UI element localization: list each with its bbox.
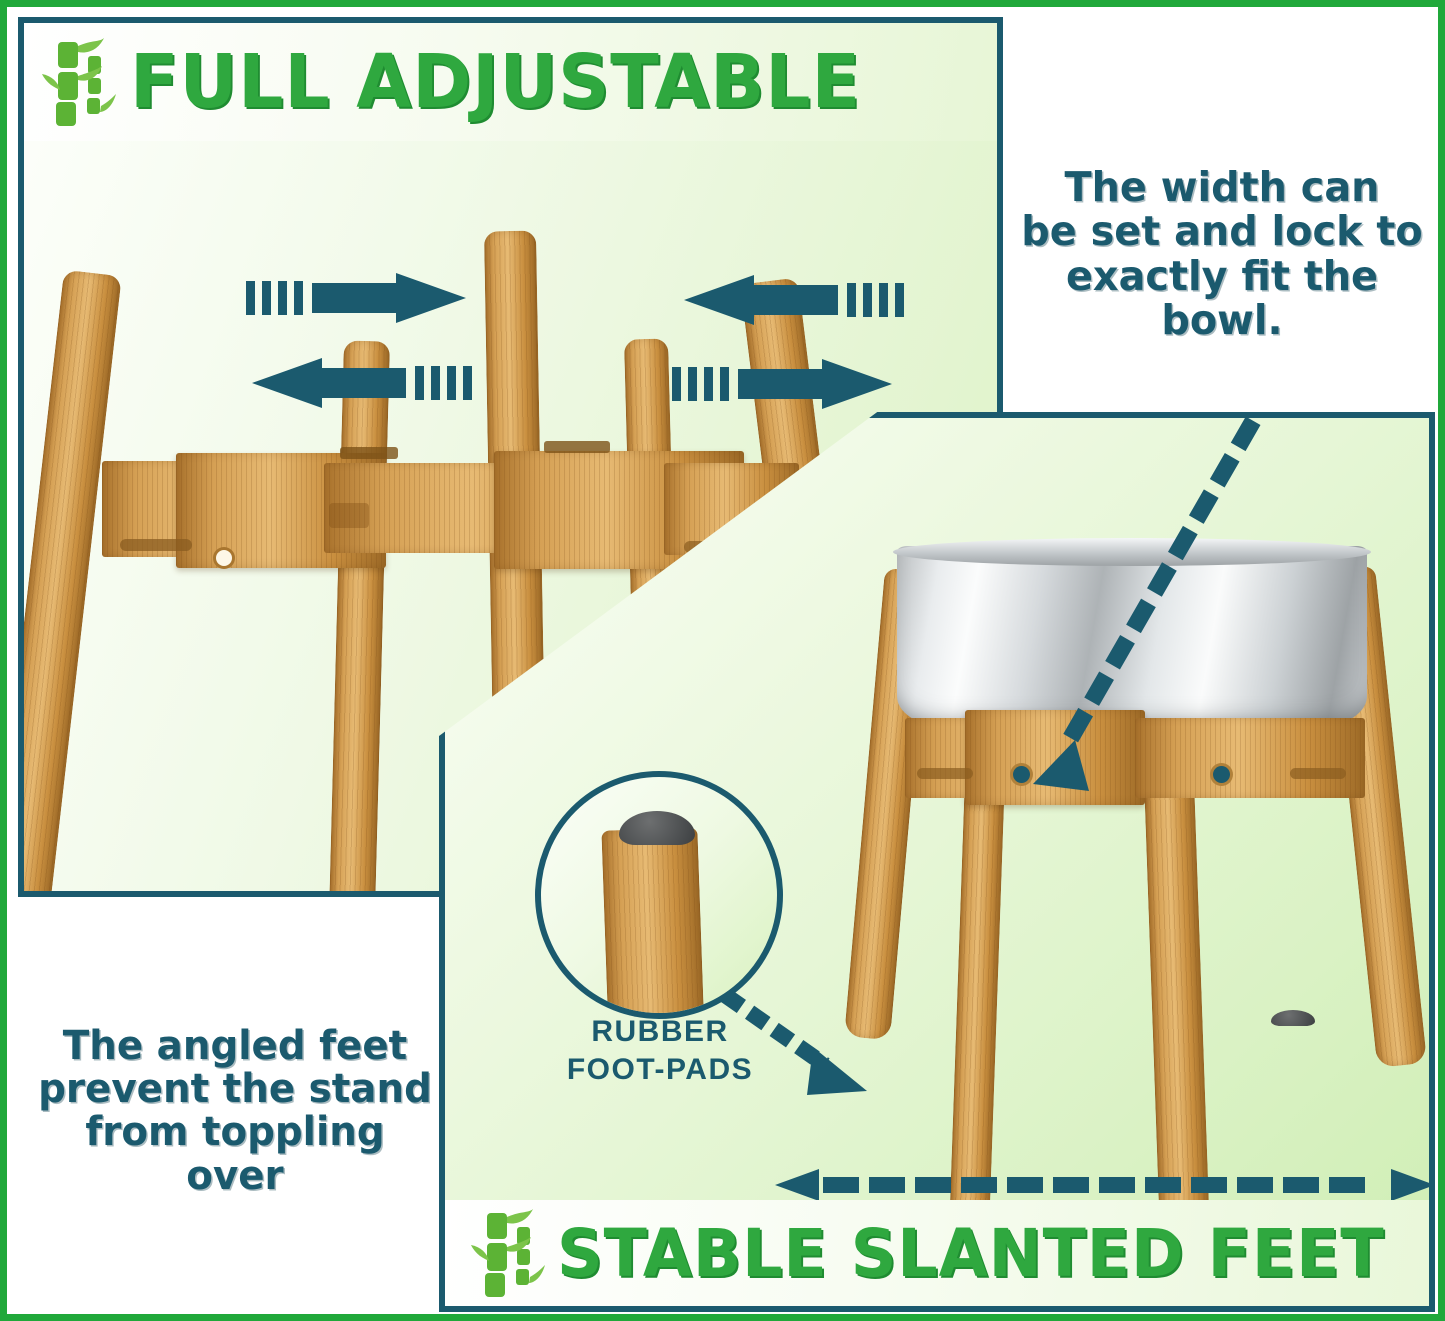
width-lock-pointer-arrow xyxy=(1005,418,1305,798)
callout-width-lock: The width can be set and lock to exactly… xyxy=(1004,165,1441,342)
callout-angled-feet: The angled feet prevent the stand from t… xyxy=(31,1025,438,1198)
adjust-arrows-left xyxy=(246,273,466,323)
callout-angled-feet-line2: prevent the stand xyxy=(31,1068,438,1111)
banner-full-adjustable: FULL ADJUSTABLE xyxy=(24,23,997,141)
magnified-leg xyxy=(601,827,704,1019)
callout-angled-feet-line1: The angled feet xyxy=(31,1025,438,1068)
bamboo-icon xyxy=(471,1207,545,1299)
stand-post-left xyxy=(329,340,390,891)
rail-notch-top-right xyxy=(544,441,610,453)
infographic-canvas: FULL ADJUSTABLE xyxy=(0,0,1445,1321)
label-rubber-foot-pads-line1: RUBBER xyxy=(555,1013,765,1051)
rail-slot-left xyxy=(120,539,192,551)
adjust-arrows-left-back xyxy=(252,358,472,408)
rubber-foot-pad-right xyxy=(1271,1010,1315,1026)
callout-width-lock-line1: The width can xyxy=(1004,165,1441,209)
rail-screw-left xyxy=(216,550,232,566)
banner-title-full-adjustable: FULL ADJUSTABLE xyxy=(130,39,861,125)
label-rubber-foot-pads-line2: FOOT-PADS xyxy=(555,1051,765,1089)
brand-stamp xyxy=(329,503,369,528)
callout-angled-feet-line3: from toppling xyxy=(31,1111,438,1154)
bowl-frame-slot-left xyxy=(917,768,973,779)
callout-width-lock-line3: exactly fit the bowl. xyxy=(1004,254,1441,343)
stand-leg-far-left xyxy=(24,270,122,891)
rail-notch-top-left xyxy=(340,447,398,459)
callout-angled-feet-line4: over xyxy=(31,1155,438,1198)
banner-title-stable-slanted-feet: STABLE SLANTED FEET xyxy=(557,1215,1385,1292)
banner-stable-slanted-feet: STABLE SLANTED FEET xyxy=(445,1200,1429,1306)
callout-width-lock-line2: be set and lock to xyxy=(1004,209,1441,253)
label-rubber-foot-pads: RUBBER FOOT-PADS xyxy=(555,1013,765,1088)
adjust-arrows-right-back xyxy=(684,275,904,325)
magnified-rubber-pad xyxy=(619,811,695,845)
bamboo-icon xyxy=(42,36,116,128)
rubber-footpad-magnifier xyxy=(535,771,783,1019)
adjust-arrows-right xyxy=(672,359,892,409)
